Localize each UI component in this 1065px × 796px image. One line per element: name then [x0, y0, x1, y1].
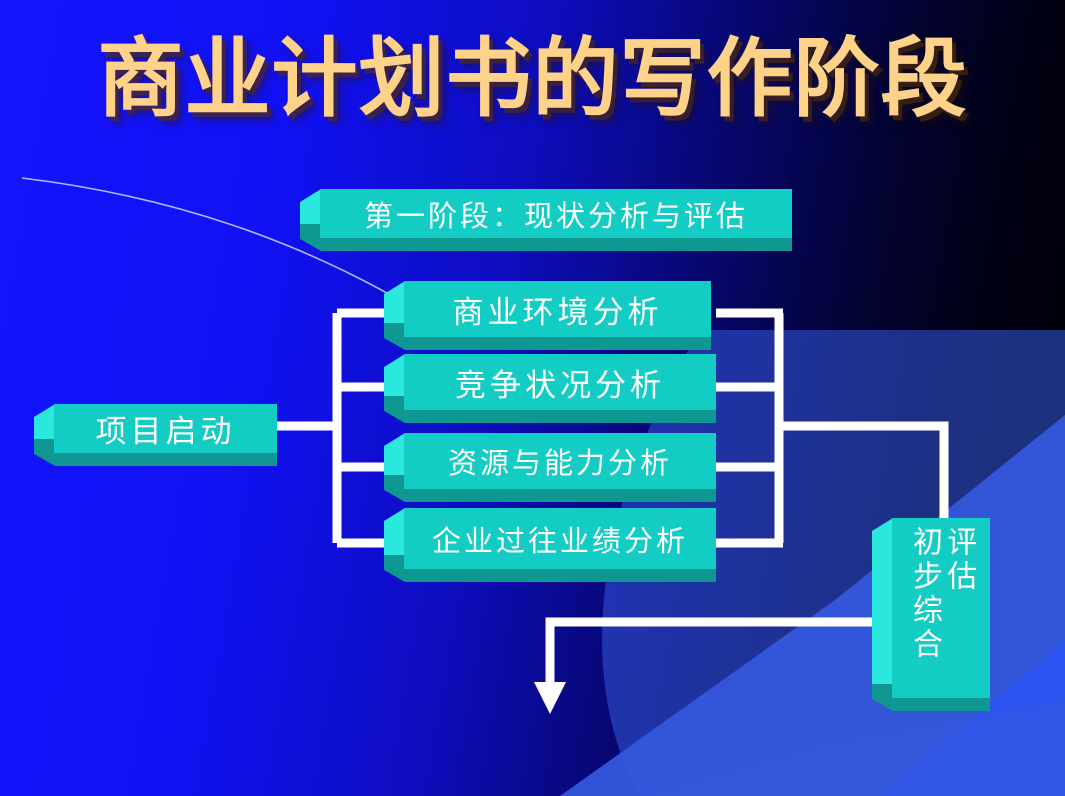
analysis-node-4-label: 企业过往业绩分析 — [404, 508, 716, 569]
analysis-node-1[interactable]: 商业环境分析 — [384, 281, 711, 350]
analysis-node-2-label: 竞争状况分析 — [404, 354, 716, 410]
result-node-label-column-2: 评估 — [941, 526, 975, 698]
analysis-node-3-label: 资源与能力分析 — [404, 433, 716, 489]
analysis-node-3[interactable]: 资源与能力分析 — [384, 433, 716, 502]
slide-canvas: 商业计划书的写作阶段 第一阶段：现状分析与评估 项目启动 商业环境分析 竞争状况… — [0, 0, 1065, 796]
analysis-node-2[interactable]: 竞争状况分析 — [384, 354, 716, 423]
start-node-label: 项目启动 — [54, 404, 277, 453]
wire-eval-output — [550, 622, 890, 686]
box-side-face — [872, 518, 893, 698]
result-node[interactable]: 初步综合 评估 — [872, 518, 990, 711]
wire-trunk-to-eval — [779, 426, 944, 521]
start-node[interactable]: 项目启动 — [34, 404, 277, 466]
page-title: 商业计划书的写作阶段 — [0, 36, 1065, 122]
phase-header-node[interactable]: 第一阶段：现状分析与评估 — [300, 189, 792, 251]
result-node-label-column-1: 初步综合 — [907, 526, 941, 698]
arrowhead-down — [534, 682, 566, 714]
analysis-node-1-label: 商业环境分析 — [404, 281, 711, 337]
phase-header-label: 第一阶段：现状分析与评估 — [320, 189, 792, 238]
result-node-labels: 初步综合 评估 — [892, 518, 990, 698]
analysis-node-4[interactable]: 企业过往业绩分析 — [384, 508, 716, 582]
